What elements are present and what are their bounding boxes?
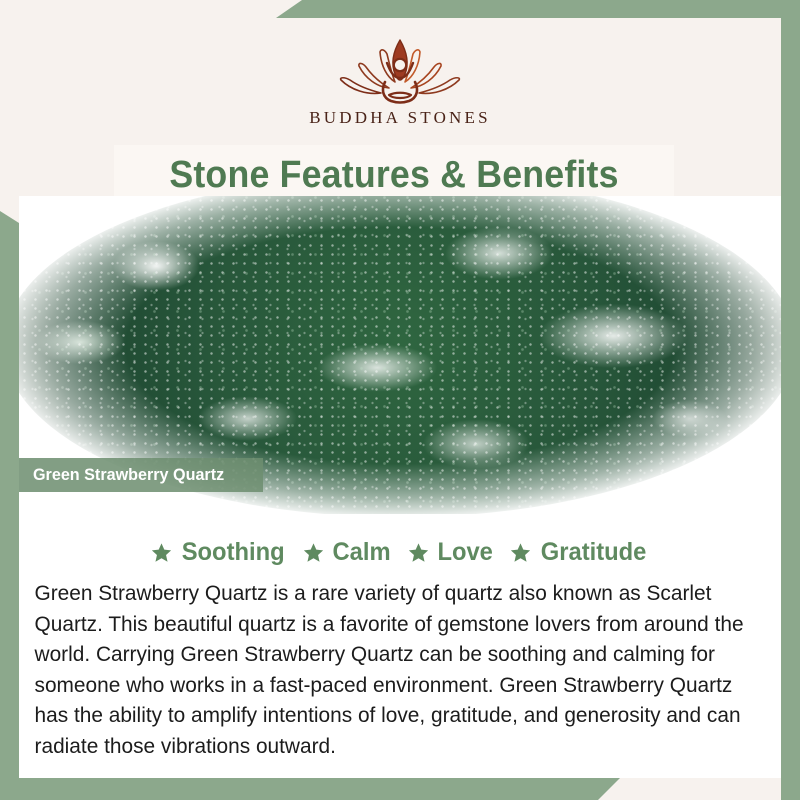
feature-label: Love [437, 538, 492, 567]
brand-name: BUDDHA STONES [309, 108, 491, 128]
content-card: BUDDHA STONES Stone Features & Benefits … [19, 18, 781, 778]
feature-item: Love [408, 538, 494, 567]
feature-item: Gratitude [510, 538, 649, 567]
description-paragraph: Green Strawberry Quartz is a rare variet… [19, 576, 768, 761]
features-row: Soothing Calm Love [19, 528, 781, 576]
feature-item: Calm [303, 538, 392, 567]
feature-label: Soothing [181, 538, 284, 567]
body-area: Soothing Calm Love [19, 514, 781, 778]
infographic-page: BUDDHA STONES Stone Features & Benefits … [0, 0, 800, 800]
decor-top-right-band [276, 0, 800, 18]
feature-label: Gratitude [541, 538, 647, 567]
photo-caption: Green Strawberry Quartz [33, 465, 224, 485]
photo-caption-band: Green Strawberry Quartz [19, 458, 263, 492]
feature-item: Soothing [151, 538, 287, 567]
feature-label: Calm [332, 538, 390, 567]
decor-right-bar [781, 0, 800, 800]
lotus-meditation-icon [325, 32, 475, 112]
star-icon [303, 542, 324, 563]
brand-logo: BUDDHA STONES [19, 18, 781, 143]
decor-left-bar [0, 211, 19, 800]
decor-bottom-band [0, 778, 620, 800]
page-title: Stone Features & Benefits [169, 154, 618, 197]
star-icon [151, 542, 172, 563]
star-icon [510, 542, 531, 563]
stone-photo: Green Strawberry Quartz [19, 196, 781, 514]
star-icon [408, 542, 429, 563]
